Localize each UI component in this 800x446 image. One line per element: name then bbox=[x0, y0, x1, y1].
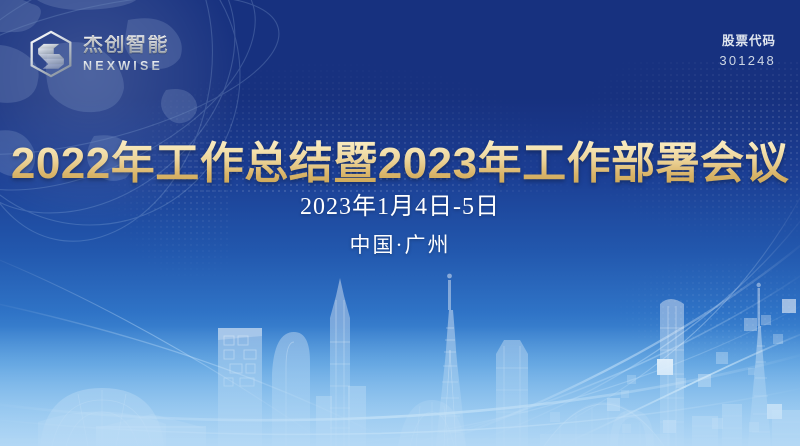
brand-wordmark: 杰创智能 NEXWISE bbox=[83, 35, 169, 73]
stock-code-label: 股票代码 bbox=[719, 33, 776, 50]
brand-name-en: NEXWISE bbox=[83, 60, 169, 73]
page-title: 2022年工作总结暨2023年工作部署会议 bbox=[0, 127, 800, 191]
event-date: 2023年1月4日-5日 bbox=[0, 186, 800, 221]
stock-code-block: 股票代码 301248 bbox=[719, 33, 776, 69]
nexwise-cube-logo-icon bbox=[28, 30, 74, 78]
brand-logo: 杰创智能 NEXWISE bbox=[28, 30, 169, 78]
stock-code-value: 301248 bbox=[719, 52, 776, 70]
conference-poster: 杰创智能 NEXWISE 股票代码 301248 2022年工作总结暨2023年… bbox=[0, 0, 800, 446]
event-location: 中国·广州 bbox=[0, 229, 800, 259]
poster-content: 杰创智能 NEXWISE 股票代码 301248 2022年工作总结暨2023年… bbox=[0, 0, 800, 446]
brand-name-cn: 杰创智能 bbox=[83, 35, 169, 55]
